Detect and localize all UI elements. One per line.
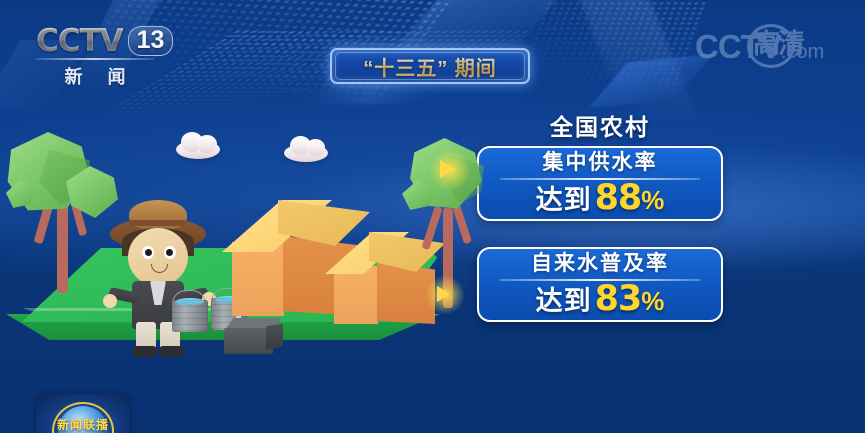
title-banner: “十三五” 期间: [330, 48, 530, 84]
stats-header: 全国农村: [480, 108, 720, 142]
farmer-hat-band: [129, 220, 187, 226]
stat-value-number: 83: [595, 282, 642, 316]
stat-value-number: 88: [595, 181, 642, 215]
stat-panel-centralized-water-supply: 集中供水率 达到 88 %: [477, 146, 723, 221]
tap-base-side: [266, 324, 283, 350]
farmer-eye-right: [164, 246, 176, 259]
background-dot-grid-3: [514, 0, 716, 91]
farmer-hand-left: [103, 294, 117, 308]
background-light-streak-2: [395, 0, 565, 50]
tap-base-block: [224, 328, 273, 354]
stat-value-unit: %: [641, 284, 664, 318]
play-triangle-icon-top: [440, 160, 455, 178]
channel-logo-row: CCTV 13: [36, 26, 162, 56]
farmer-eye-left: [142, 246, 154, 259]
program-bug-label: 新闻联播: [36, 416, 130, 433]
cctv-com-watermark: 高清 CCTV.com: [695, 28, 855, 76]
stat-value-unit: %: [641, 183, 664, 217]
tree-branch-right-b: [452, 204, 472, 245]
play-triangle-icon-bottom: [437, 286, 450, 302]
farmer-face: [128, 228, 188, 286]
village-illustration-scene: [0, 118, 470, 386]
bucket-ribs-1: [172, 300, 208, 332]
channel-logo-cctv-text: CCTV: [36, 26, 123, 56]
stat-value-prefix: 达到: [536, 183, 592, 217]
house-large-front: [232, 242, 284, 316]
program-bug-logo: 新闻联播: [36, 394, 130, 433]
background-light-streak-5: [301, 82, 439, 104]
cloud-icon: [176, 140, 220, 159]
tree-trunk-left: [57, 198, 68, 293]
stat-panel-value: 达到 88 %: [536, 181, 665, 217]
farmer-shoe-left: [132, 346, 157, 357]
stat-panel-tap-water-coverage: 自来水普及率 达到 83 %: [477, 247, 723, 322]
title-banner-text: “十三五” 期间: [363, 52, 497, 81]
channel-logo-subtitle: 新 闻: [36, 63, 154, 89]
broadcast-graphic-stage: CCTV 13 新 闻 高清 CCTV.com “十三五” 期间 全国农村 集中…: [0, 0, 865, 433]
channel-logo: CCTV 13 新 闻: [36, 26, 162, 90]
background-light-streak-3: [572, 0, 699, 120]
stat-panel-title: 自来水普及率: [531, 251, 669, 277]
cloud-icon: [284, 144, 328, 162]
house-small-front: [334, 266, 378, 324]
channel-logo-number: 13: [128, 26, 174, 56]
watermark-hd-text: 高清: [753, 22, 803, 61]
stat-panel-title: 集中供水率: [543, 150, 658, 176]
stat-value-prefix: 达到: [536, 284, 592, 318]
stat-panel-value: 达到 83 %: [536, 282, 665, 318]
farmer-shoe-right: [159, 346, 184, 357]
